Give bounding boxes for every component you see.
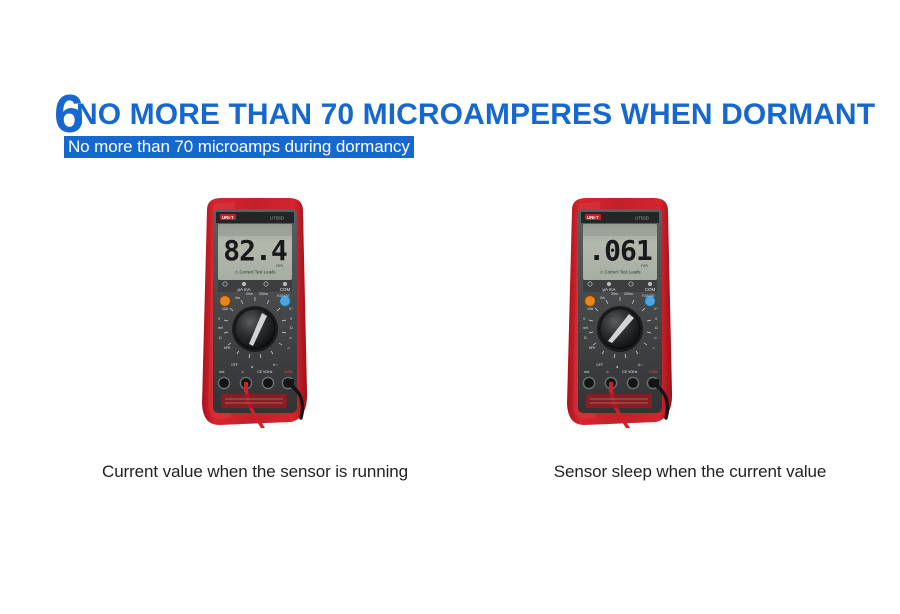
model-text: UT58D	[635, 215, 649, 220]
range-label: RANGE	[277, 294, 290, 298]
svg-text:V~: V~	[654, 307, 658, 311]
svg-text:♫: ♫	[652, 346, 655, 350]
svg-text:≃: ≃	[654, 336, 657, 340]
step-number: 6	[54, 87, 83, 141]
caption-sleep: Sensor sleep when the current value	[505, 462, 875, 482]
svg-text:V~: V~	[289, 307, 293, 311]
model-text: UT58D	[270, 215, 284, 220]
svg-text:mA: mA	[584, 370, 590, 374]
svg-text:A∼: A∼	[273, 363, 278, 367]
svg-text:OFF: OFF	[596, 363, 604, 367]
subtitle-band: No more than 70 microamps during dormanc…	[64, 136, 414, 158]
lcd-warning: ⚠ Correct Test Leads	[599, 270, 640, 275]
svg-text:mA: mA	[219, 370, 225, 374]
caption-running: Current value when the sensor is running	[70, 462, 440, 482]
svg-text:mV: mV	[583, 326, 589, 330]
svg-text:≃: ≃	[289, 336, 292, 340]
svg-text:Ω: Ω	[219, 336, 222, 340]
page-title: NO MORE THAN 70 MICROAMPERES WHEN DORMAN…	[76, 100, 875, 130]
multimeter-illustration-left: UNI-T UT58D 82.4 mA ⚠ Correct Test Leads…	[191, 196, 319, 428]
svg-text:♫: ♫	[287, 346, 290, 350]
brand-text: UNI-T	[587, 215, 599, 220]
range-label: RANGE	[642, 294, 655, 298]
multimeter-running: UNI-T UT58D 82.4 mA ⚠ Correct Test Leads…	[191, 196, 319, 428]
svg-text:10A: 10A	[587, 307, 594, 311]
jack-label-com: COM	[280, 287, 291, 292]
jack-com[interactable]	[627, 377, 638, 388]
lcd-unit: mA	[641, 263, 648, 268]
hold-button[interactable]	[220, 296, 231, 307]
svg-text:2m: 2m	[235, 296, 240, 300]
svg-text:VΩHz: VΩHz	[263, 370, 273, 374]
svg-text:hFE: hFE	[224, 346, 231, 350]
svg-text:20m: 20m	[246, 292, 253, 296]
svg-text:COM: COM	[284, 370, 292, 374]
jack-indicator-4	[283, 282, 287, 286]
bottom-warning-label	[221, 394, 287, 408]
jack-indicator-2	[242, 282, 246, 286]
svg-text:hFE: hFE	[589, 346, 596, 350]
lcd-unit: mA	[276, 263, 283, 268]
photo-panel-sleep: UNI-T UT58D .061 mA ⚠ Correct Test Leads…	[470, 196, 770, 446]
jack-indicator-4	[648, 282, 652, 286]
svg-text:Ω: Ω	[290, 326, 293, 330]
test-lead-red-plug	[609, 382, 613, 392]
test-lead-black-plug	[284, 379, 294, 387]
svg-text:CE: CE	[622, 370, 628, 374]
svg-text:Ω: Ω	[584, 336, 587, 340]
svg-text:COM: COM	[649, 370, 657, 374]
subtitle-text: No more than 70 microamps during dormanc…	[68, 137, 410, 156]
svg-text:mV: mV	[218, 326, 224, 330]
svg-text:A∼: A∼	[638, 363, 643, 367]
jack-com[interactable]	[262, 377, 273, 388]
test-lead-red-plug	[244, 382, 248, 392]
svg-text:20m: 20m	[611, 292, 618, 296]
header-block: 6 NO MORE THAN 70 MICROAMPERES WHEN DORM…	[0, 0, 900, 175]
lcd-warning: ⚠ Correct Test Leads	[234, 270, 275, 275]
multimeter-illustration-right: UNI-T UT58D .061 mA ⚠ Correct Test Leads…	[556, 196, 684, 428]
jack-10a[interactable]	[218, 377, 229, 388]
brand-text: UNI-T	[222, 215, 234, 220]
jack-label-com: COM	[645, 287, 656, 292]
svg-text:2m: 2m	[600, 296, 605, 300]
multimeter-sleep: UNI-T UT58D .061 mA ⚠ Correct Test Leads…	[556, 196, 684, 428]
svg-text:10A: 10A	[222, 307, 229, 311]
svg-text:200m: 200m	[259, 292, 268, 296]
photo-panel-running: UNI-T UT58D 82.4 mA ⚠ Correct Test Leads…	[105, 196, 405, 446]
svg-text:OFF: OFF	[231, 363, 239, 367]
svg-text:Ω: Ω	[655, 326, 658, 330]
test-lead-black-plug	[649, 379, 659, 387]
svg-text:VΩHz: VΩHz	[628, 370, 638, 374]
svg-text:CE: CE	[257, 370, 263, 374]
svg-text:200m: 200m	[624, 292, 633, 296]
jack-10a[interactable]	[583, 377, 594, 388]
bottom-warning-label	[586, 394, 652, 408]
jack-indicator-2	[607, 282, 611, 286]
hold-button[interactable]	[585, 296, 596, 307]
